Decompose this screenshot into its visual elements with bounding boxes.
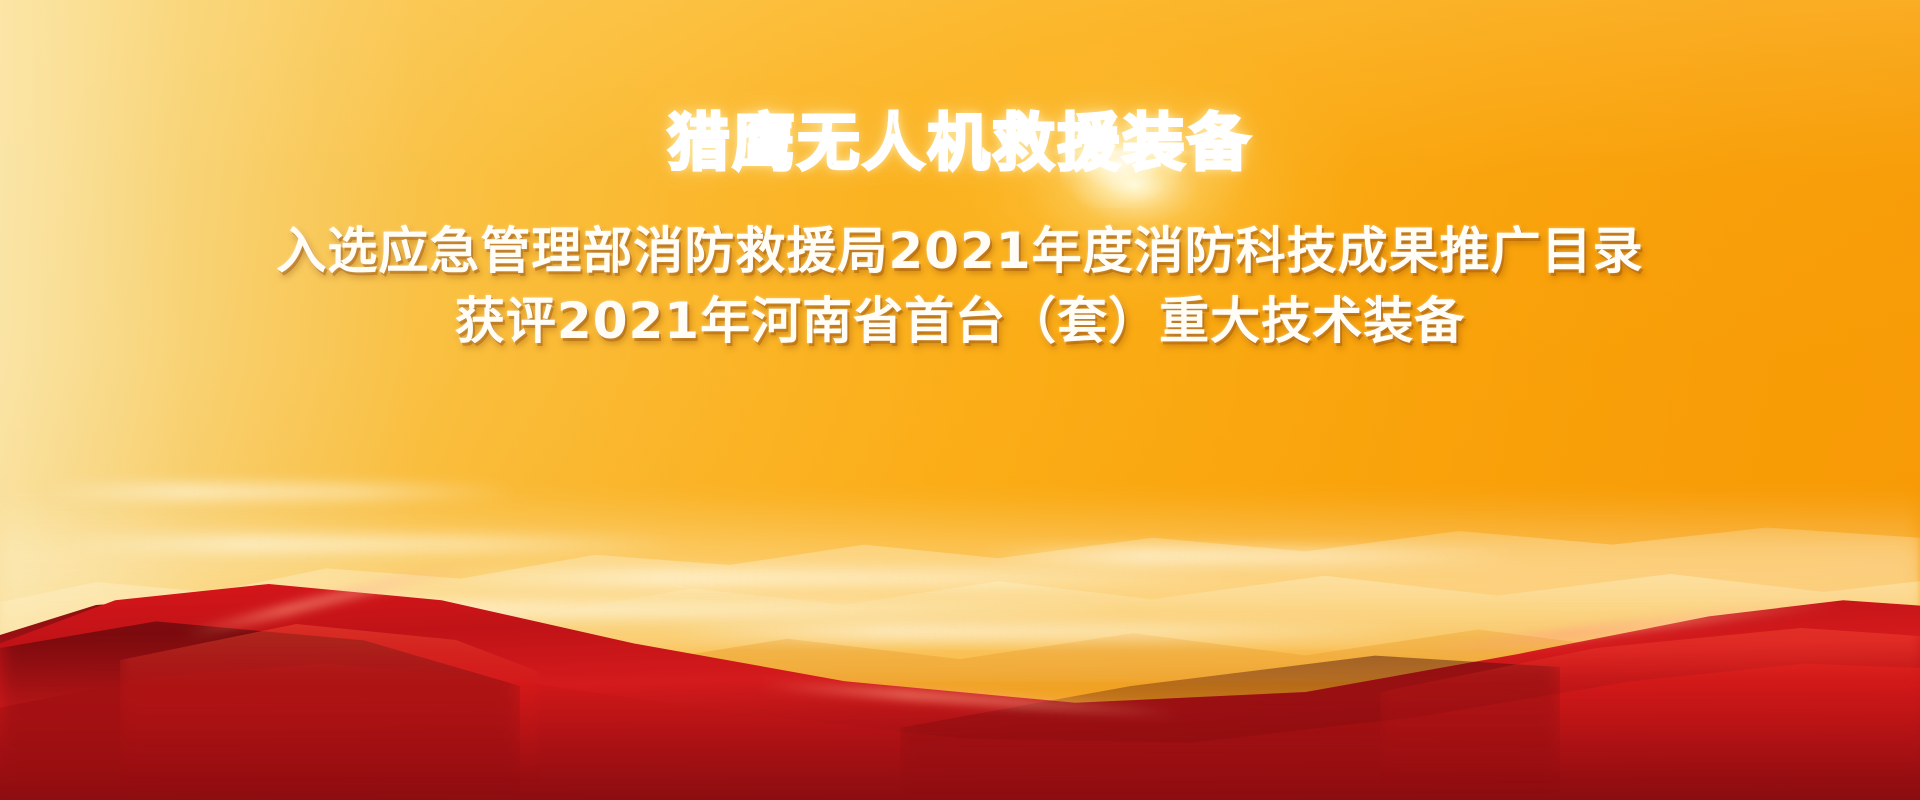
banner-main-title: 猎鹰无人机救援装备 — [0, 112, 1920, 174]
banner-text-block: 猎鹰无人机救援装备 入选应急管理部消防救援局2021年度消防科技成果推广目录 获… — [0, 0, 1920, 352]
banner-subtitle-line-1: 入选应急管理部消防救援局2021年度消防科技成果推广目录 — [0, 220, 1920, 282]
banner-subtitle-line-2: 获评2021年河南省首台（套）重大技术装备 — [0, 290, 1920, 352]
red-silk-ribbon-decoration — [0, 460, 1920, 800]
promo-banner: 猎鹰无人机救援装备 入选应急管理部消防救援局2021年度消防科技成果推广目录 获… — [0, 0, 1920, 800]
